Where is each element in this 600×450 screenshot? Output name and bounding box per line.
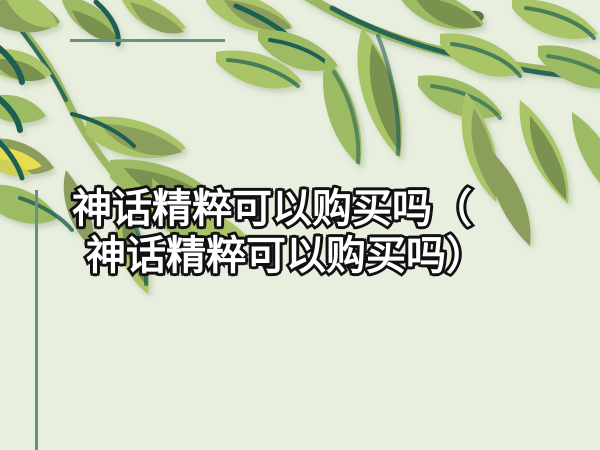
poster-canvas: 神话精粹可以购买吗（ 神话精粹可以购买吗） bbox=[0, 0, 600, 450]
vertical-rule bbox=[35, 190, 38, 450]
page-title-line-2: 神话精粹可以购买吗） bbox=[72, 233, 542, 280]
horizontal-rule bbox=[70, 39, 225, 42]
page-title: 神话精粹可以购买吗（ 神话精粹可以购买吗） bbox=[72, 186, 542, 280]
page-title-line-1: 神话精粹可以购买吗（ bbox=[72, 186, 542, 233]
